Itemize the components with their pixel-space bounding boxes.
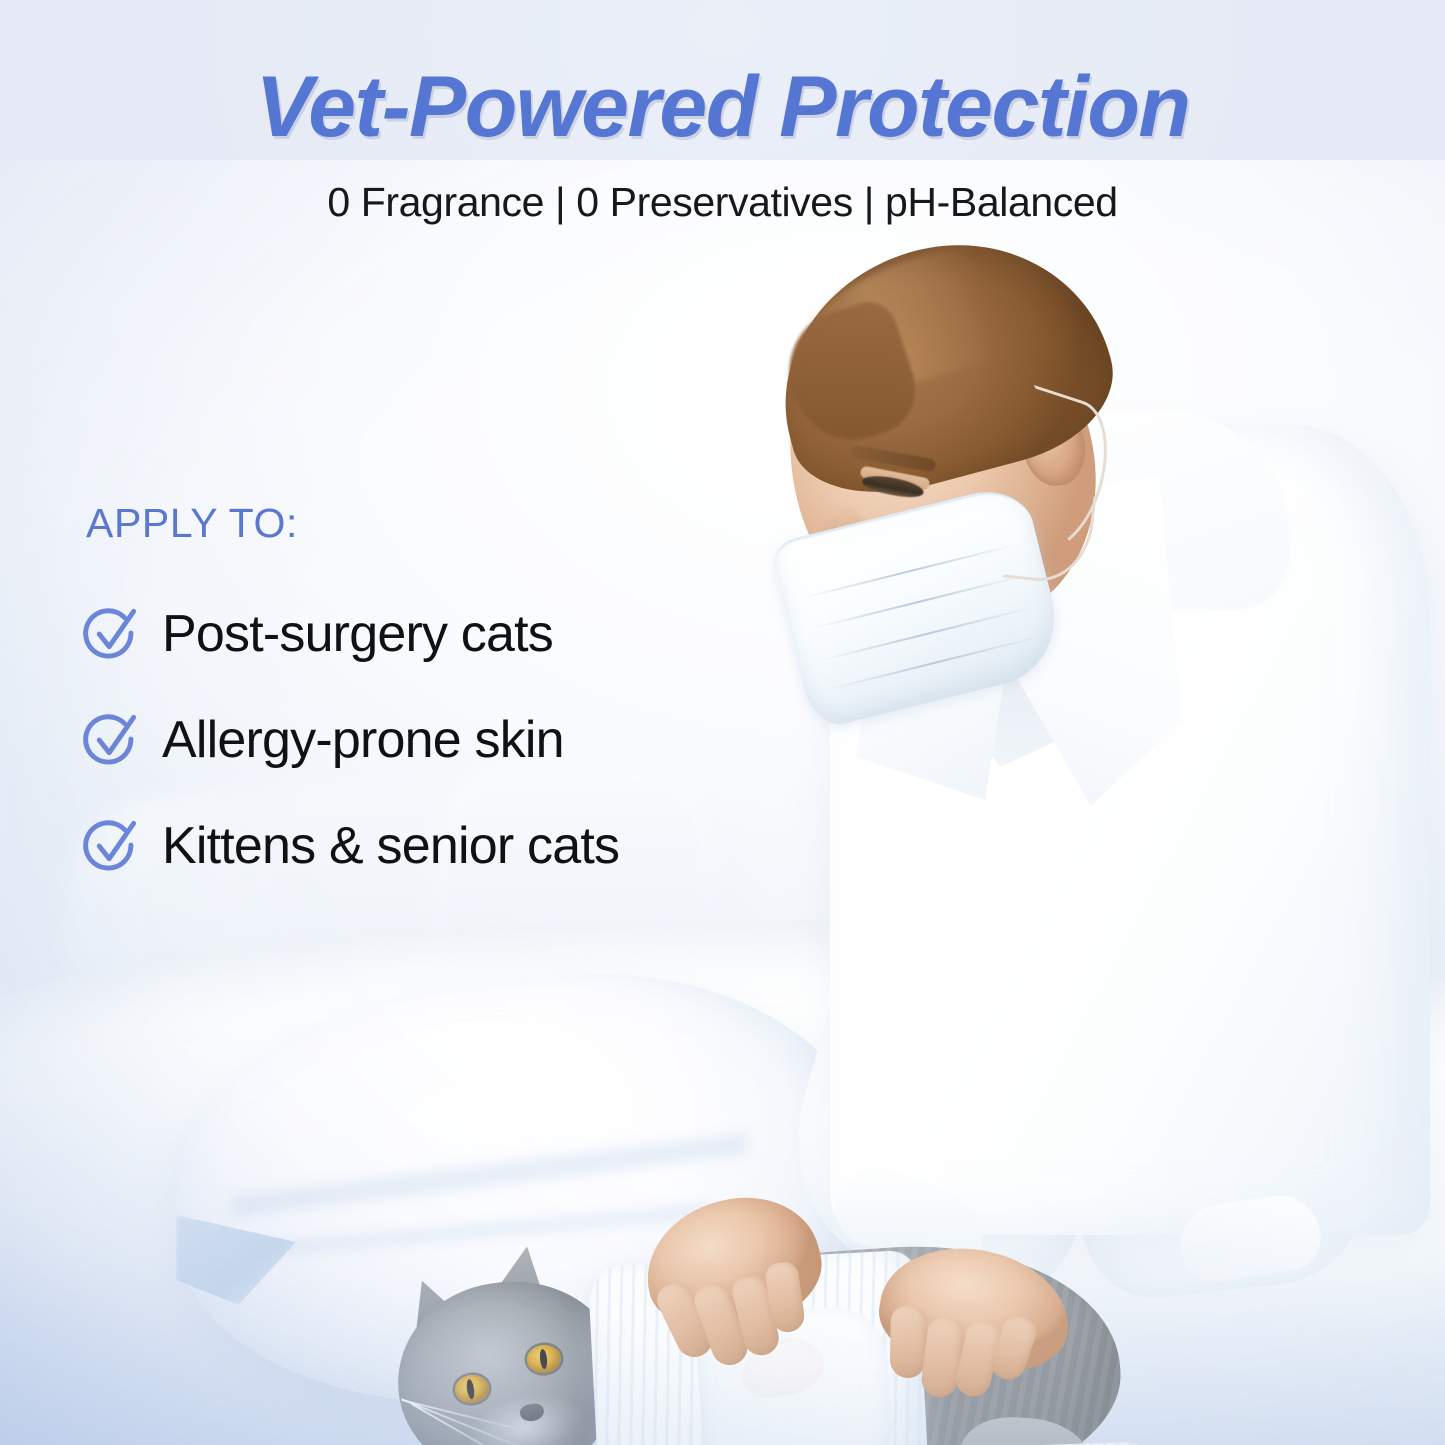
page-title: Vet-Powered Protection xyxy=(0,62,1445,153)
apply-to-list: Post-surgery cats Allergy-prone skin Kit… xyxy=(82,592,619,910)
list-item: Kittens & senior cats xyxy=(82,804,619,888)
poster-content: Vet-Powered Protection 0 Fragrance | 0 P… xyxy=(0,0,1445,1445)
list-item-label: Post-surgery cats xyxy=(162,608,553,660)
circle-check-icon xyxy=(82,605,140,663)
poster-canvas: Vet-Powered Protection 0 Fragrance | 0 P… xyxy=(0,0,1445,1445)
circle-check-icon xyxy=(82,711,140,769)
apply-to-label: APPLY TO: xyxy=(86,500,298,547)
list-item-label: Kittens & senior cats xyxy=(162,820,619,872)
list-item: Allergy-prone skin xyxy=(82,698,619,782)
circle-check-icon xyxy=(82,817,140,875)
page-subtitle: 0 Fragrance | 0 Preservatives | pH-Balan… xyxy=(0,178,1445,227)
list-item-label: Allergy-prone skin xyxy=(162,714,564,766)
list-item: Post-surgery cats xyxy=(82,592,619,676)
